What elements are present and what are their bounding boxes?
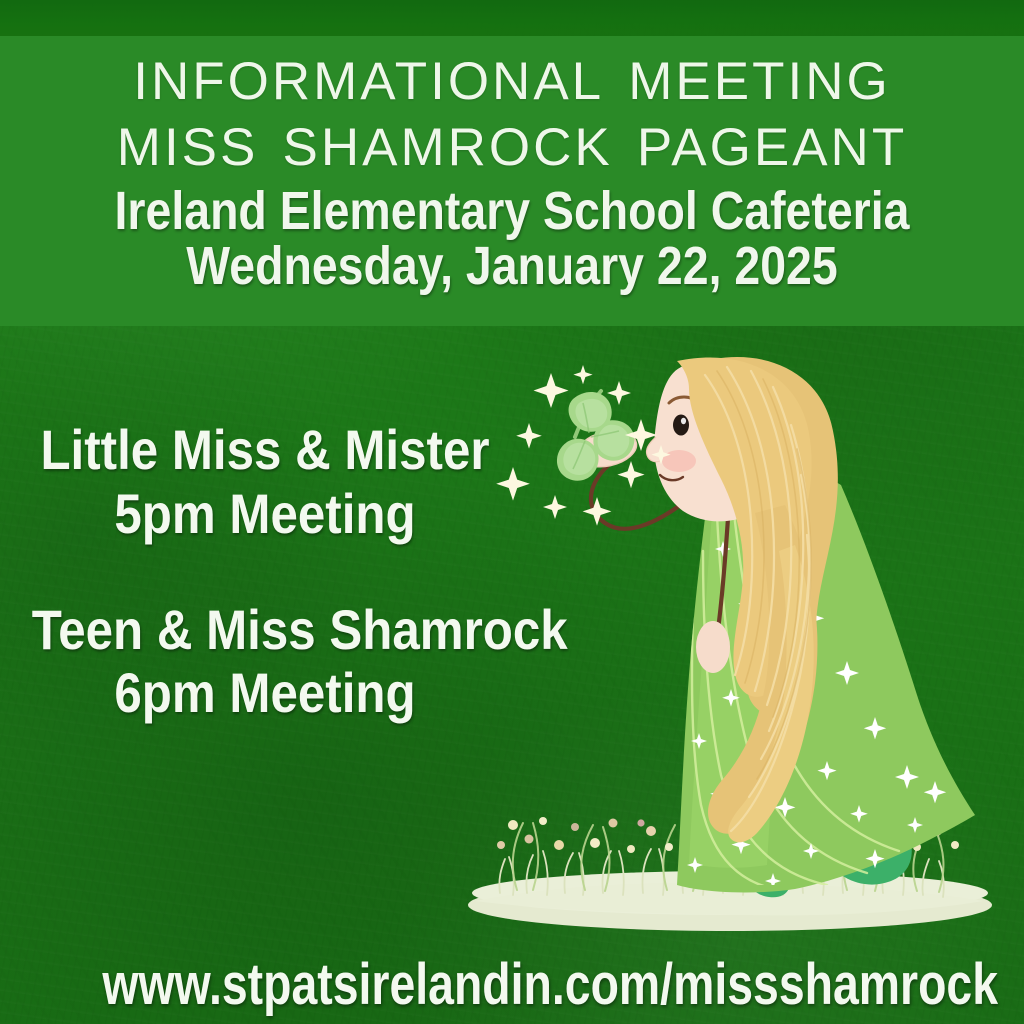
poster-canvas: Informational Meeting Miss Shamrock Page…	[0, 0, 1024, 1024]
header-band: Informational Meeting Miss Shamrock Page…	[0, 36, 1024, 326]
schedule-category: Little Miss & Mister	[32, 418, 498, 482]
schedule-category: Teen & Miss Shamrock	[32, 598, 498, 662]
schedule-list: Little Miss & Mister 5pm Meeting Teen & …	[0, 418, 530, 725]
date-line: Wednesday, January 22, 2025	[72, 239, 953, 295]
poster-title: Informational Meeting Miss Shamrock Page…	[0, 42, 1024, 172]
schedule-time: 5pm Meeting	[32, 482, 498, 546]
title-line-2: Miss Shamrock Pageant	[0, 108, 1024, 172]
venue-line: Ireland Elementary School Cafeteria	[72, 184, 953, 240]
poster-subtitle: Ireland Elementary School Cafeteria Wedn…	[0, 184, 1024, 295]
website-url[interactable]: www.stpatsirelandin.com/missshamrock	[102, 951, 921, 1018]
schedule-item-teen-miss-shamrock: Teen & Miss Shamrock 6pm Meeting	[0, 598, 530, 726]
schedule-item-little-miss-mister: Little Miss & Mister 5pm Meeting	[0, 418, 530, 546]
schedule-time: 6pm Meeting	[32, 661, 498, 725]
